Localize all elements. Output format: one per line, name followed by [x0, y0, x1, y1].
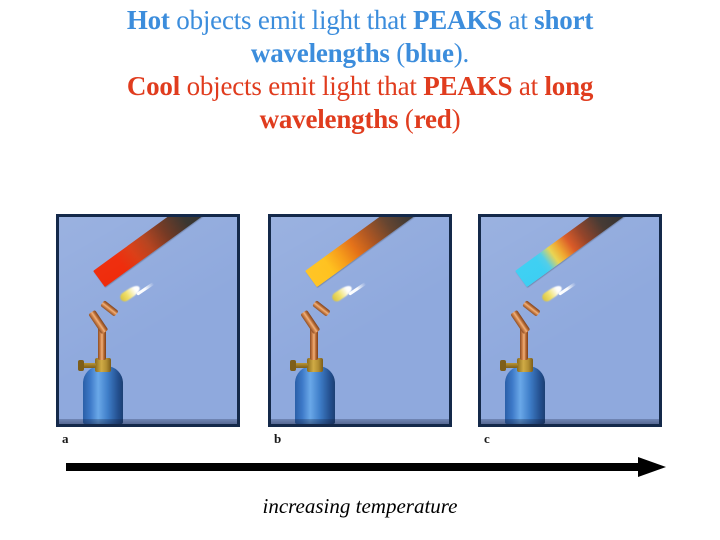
heading-run-close-paren-blue: ). [454, 38, 469, 68]
heading-line-3: Cool objects emit light that PEAKS at lo… [0, 70, 720, 103]
heading-run-open-paren-blue: ( [396, 38, 405, 68]
propane-tank [505, 366, 545, 424]
figure-panel-a: a [56, 208, 246, 444]
torch-tube-bend [88, 310, 108, 334]
panel-label-c: c [484, 432, 490, 445]
torch-tube-bend [300, 310, 320, 334]
yellow-hot-rod [305, 214, 452, 287]
heading-line-2: wavelengths (blue). [0, 37, 720, 70]
heading-run-red-word: red [414, 104, 452, 134]
blue-hot-rod [515, 214, 662, 287]
tank-valve [95, 358, 111, 372]
heading-run-wavelengths-red: wavelengths [260, 104, 405, 134]
increasing-temperature-arrow [66, 461, 666, 479]
heading-run-cool: Cool [127, 71, 187, 101]
propane-tank [83, 366, 123, 424]
torch-nozzle [522, 300, 540, 317]
heading-run-peaks-red: PEAKS [423, 71, 519, 101]
heading-run-close-paren-red: ) [452, 104, 461, 134]
heading-run-blue-word: blue [405, 38, 454, 68]
torch-tube-bend [510, 310, 530, 334]
torch-nozzle [312, 300, 330, 317]
tank-valve [307, 358, 323, 372]
figure-panel-b: b [268, 208, 458, 444]
panel-label-a: a [62, 432, 69, 445]
red-hot-rod [93, 214, 240, 287]
heading-run-open-paren-red: ( [405, 104, 414, 134]
tank-knob [293, 363, 308, 368]
heading-line-4: wavelengths (red) [0, 103, 720, 136]
slide-heading: Hot objects emit light that PEAKS at sho… [0, 4, 720, 136]
heading-run-objects-emit-red: objects emit light that [187, 71, 424, 101]
tank-knob [503, 363, 518, 368]
figure-panel-c: c [478, 208, 668, 444]
tank-knob [81, 363, 96, 368]
heading-run-at: at [509, 5, 535, 35]
heading-run-at-red: at [519, 71, 545, 101]
panel-floor [481, 419, 659, 424]
heading-run-objects-emit: objects emit light that [176, 5, 413, 35]
heading-run-short: short [534, 5, 593, 35]
heading-run-wavelengths-blue: wavelengths [251, 38, 396, 68]
heading-line-1: Hot objects emit light that PEAKS at sho… [0, 4, 720, 37]
panel-label-b: b [274, 432, 281, 445]
panel-b-frame [268, 214, 452, 427]
figure-caption: increasing temperature [0, 494, 720, 519]
heading-run-long: long [544, 71, 593, 101]
panel-floor [271, 419, 449, 424]
torch-nozzle [100, 300, 118, 317]
arrow-head-icon [638, 457, 666, 477]
propane-tank [295, 366, 335, 424]
torch-figure: a b c [0, 208, 720, 448]
arrow-shaft [66, 463, 644, 471]
heading-run-peaks: PEAKS [413, 5, 509, 35]
heading-run-hot: Hot [127, 5, 176, 35]
panel-c-frame [478, 214, 662, 427]
tank-valve [517, 358, 533, 372]
panel-a-frame [56, 214, 240, 427]
panel-floor [59, 419, 237, 424]
